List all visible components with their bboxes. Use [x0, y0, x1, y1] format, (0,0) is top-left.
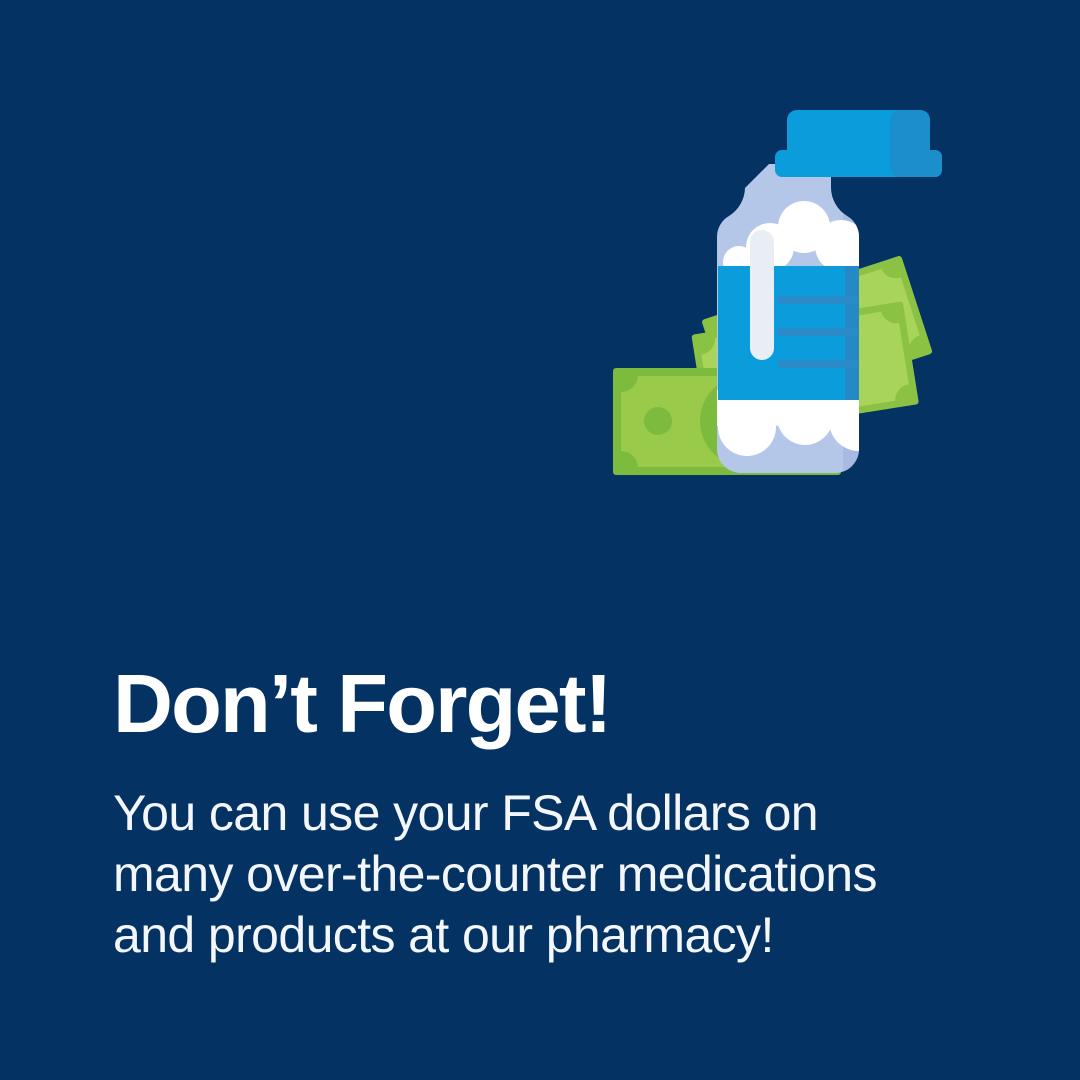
text-block: Don’t Forget! You can use your FSA dolla…: [113, 662, 993, 966]
body-copy-line-2: many over-the-counter medications: [113, 844, 953, 905]
body-copy: You can use your FSA dollars on many ove…: [113, 745, 953, 966]
social-graphic-canvas: $: [0, 0, 1080, 1080]
body-copy-line-1: You can use your FSA dollars on: [113, 783, 953, 844]
label-line: [778, 328, 857, 336]
bottle-cap: [775, 110, 942, 177]
fsa-pill-bottle-with-cash-illustration: $: [600, 90, 992, 482]
pill: [815, 220, 867, 272]
bill-seal-dot: [644, 407, 672, 435]
label-line: [778, 360, 857, 368]
page-headline: Don’t Forget!: [113, 662, 993, 745]
bottle-highlight: [750, 230, 774, 360]
body-copy-line-3: and products at our pharmacy!: [113, 905, 953, 966]
label-line: [778, 296, 857, 304]
